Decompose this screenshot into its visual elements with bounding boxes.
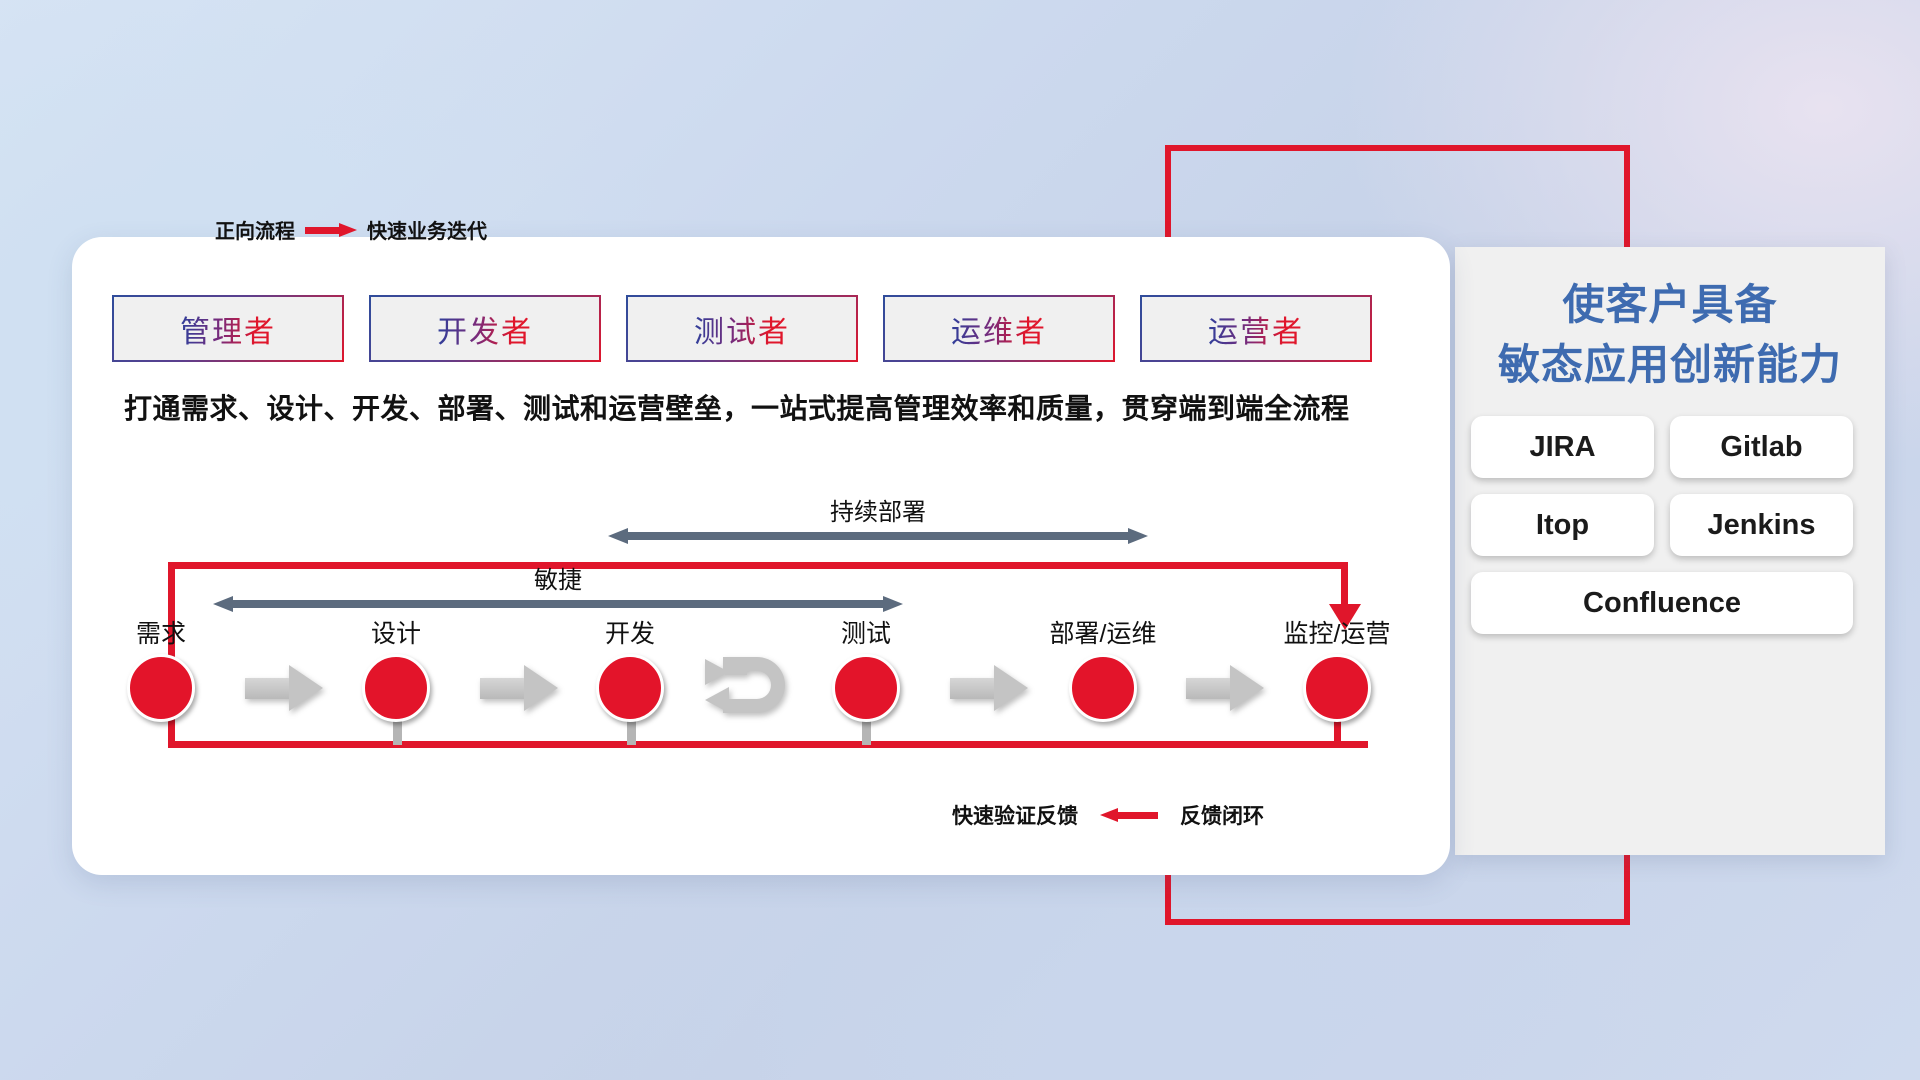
side-panel: 使客户具备 敏态应用创新能力 JIRA Gitlab Itop Jenkins … xyxy=(1455,247,1885,855)
tool-box-jira[interactable]: JIRA xyxy=(1471,416,1654,478)
stage-requirement[interactable]: 需求 xyxy=(101,614,221,722)
stage-dot xyxy=(362,654,430,722)
role-box-operations[interactable]: 运营者 xyxy=(1140,295,1372,362)
flow-arrow-icon-1 xyxy=(245,665,323,711)
tool-box-jenkins[interactable]: Jenkins xyxy=(1670,494,1853,556)
role-label: 运维者 xyxy=(951,307,1047,351)
role-box-developer[interactable]: 开发者 xyxy=(369,295,601,362)
stage-label: 设计 xyxy=(336,614,456,650)
span-label: 持续部署 xyxy=(608,492,1148,527)
role-box-tester[interactable]: 测试者 xyxy=(626,295,858,362)
slide-canvas: 使客户具备 敏态应用创新能力 JIRA Gitlab Itop Jenkins … xyxy=(0,0,1920,1080)
stage-deploy-ops[interactable]: 部署/运维 xyxy=(1043,614,1163,722)
stage-dot xyxy=(127,654,195,722)
role-label: 测试者 xyxy=(694,307,790,351)
legend-feedback-left-label: 快速验证反馈 xyxy=(952,800,1078,830)
span-label: 敏捷 xyxy=(213,560,903,595)
span-continuous-deployment: 持续部署 xyxy=(608,528,1148,544)
stage-label: 部署/运维 xyxy=(1043,614,1163,650)
stage-design[interactable]: 设计 xyxy=(336,614,456,722)
stage-dot xyxy=(596,654,664,722)
role-label: 开发者 xyxy=(437,307,533,351)
tool-box-itop[interactable]: Itop xyxy=(1471,494,1654,556)
role-boxes: 管理者 开发者 测试者 运维者 运营者 xyxy=(112,295,1372,362)
role-label: 管理者 xyxy=(180,307,276,351)
headline-line-1: 使客户具备 xyxy=(1455,275,1885,335)
legend-feedback-right-label: 反馈闭环 xyxy=(1180,800,1264,830)
red-loop-bottom xyxy=(168,741,1368,748)
double-arrow-icon xyxy=(608,528,1148,544)
side-panel-headline: 使客户具备 敏态应用创新能力 xyxy=(1455,247,1885,394)
stage-development[interactable]: 开发 xyxy=(570,614,690,722)
stage-label: 需求 xyxy=(101,614,221,650)
stage-label: 测试 xyxy=(806,614,926,650)
stage-dot xyxy=(1069,654,1137,722)
flow-arrow-icon-3 xyxy=(950,665,1028,711)
legend-forward-flow: 正向流程 快速业务迭代 xyxy=(215,215,487,244)
flow-loopback-icon xyxy=(705,657,801,713)
legend-feedback-loop: 快速验证反馈 反馈闭环 xyxy=(952,800,1264,830)
subtitle: 打通需求、设计、开发、部署、测试和运营壁垒，一站式提高管理效率和质量，贯穿端到端… xyxy=(124,387,1350,427)
legend-forward-right-label: 快速业务迭代 xyxy=(367,215,487,244)
span-agile: 敏捷 xyxy=(213,596,903,612)
main-card: 管理者 开发者 测试者 运维者 运营者 打通需求、设计、开发、部署、测试和运营壁… xyxy=(72,237,1450,875)
stage-label: 监控/运营 xyxy=(1277,614,1397,650)
headline-line-2: 敏态应用创新能力 xyxy=(1455,335,1885,395)
double-arrow-icon xyxy=(213,596,903,612)
role-label: 运营者 xyxy=(1208,307,1304,351)
stage-label: 开发 xyxy=(570,614,690,650)
role-box-ops[interactable]: 运维者 xyxy=(883,295,1115,362)
stage-dot xyxy=(832,654,900,722)
arrow-left-red-icon xyxy=(1100,808,1158,822)
arrow-right-red-icon xyxy=(305,223,357,237)
legend-forward-left-label: 正向流程 xyxy=(215,215,295,244)
role-box-manager[interactable]: 管理者 xyxy=(112,295,344,362)
stage-dot xyxy=(1303,654,1371,722)
flow-arrow-icon-4 xyxy=(1186,665,1264,711)
tool-box-confluence[interactable]: Confluence xyxy=(1471,572,1853,634)
tool-box-gitlab[interactable]: Gitlab xyxy=(1670,416,1853,478)
stage-testing[interactable]: 测试 xyxy=(806,614,926,722)
flow-arrow-icon-2 xyxy=(480,665,558,711)
tool-grid: JIRA Gitlab Itop Jenkins Confluence xyxy=(1471,416,1869,634)
stage-monitor-operations[interactable]: 监控/运营 xyxy=(1277,614,1397,722)
